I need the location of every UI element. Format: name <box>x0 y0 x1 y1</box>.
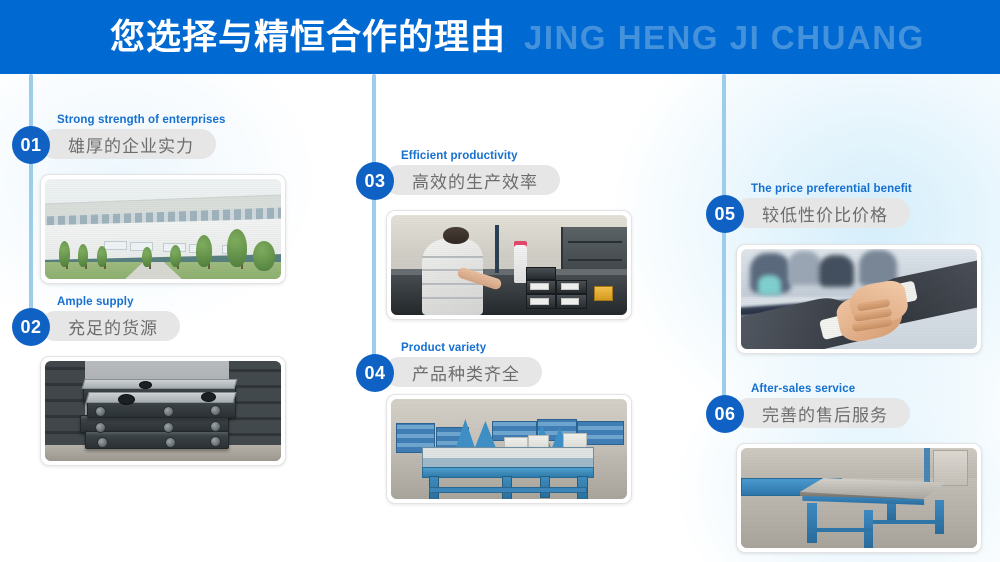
feature-item-04[interactable]: 产品种类齐全 Product variety 04 <box>356 342 656 392</box>
feature-label-cn-04: 产品种类齐全 <box>412 360 520 385</box>
feature-head-04: 产品种类齐全 Product variety 04 <box>356 342 656 392</box>
feature-label-en-06: After-sales service <box>751 383 855 395</box>
handshake-photo[interactable] <box>736 244 982 354</box>
feature-head-05: 较低性价比价格 The price preferential benefit 0… <box>706 183 996 233</box>
feature-head-06: 完善的售后服务 After-sales service 06 <box>706 383 996 433</box>
feature-badge-04: 04 <box>356 354 394 392</box>
handshake-illustration <box>741 249 977 349</box>
feature-label-cn-03: 高效的生产效率 <box>412 168 538 193</box>
worker-illustration <box>391 215 627 315</box>
feature-label-cn-05: 较低性价比价格 <box>762 201 888 226</box>
feature-pill-06: 完善的售后服务 <box>734 398 910 428</box>
feature-pill-02: 充足的货源 <box>40 311 180 341</box>
feature-item-02[interactable]: 充足的货源 Ample supply 02 <box>12 296 312 346</box>
feature-label-en-04: Product variety <box>401 342 486 354</box>
feature-item-03[interactable]: 高效的生产效率 Efficient productivity 03 <box>356 150 656 200</box>
blue-machinery-illustration <box>391 399 627 499</box>
feature-pill-05: 较低性价比价格 <box>734 198 910 228</box>
factory-building-photo[interactable] <box>40 174 286 284</box>
page-title: 您选择与精恒合作的理由 <box>110 20 506 55</box>
factory-illustration <box>45 179 281 279</box>
feature-label-en-03: Efficient productivity <box>401 150 518 162</box>
photo-frame-inner-03 <box>391 215 627 315</box>
feature-badge-01: 01 <box>12 126 50 164</box>
work-table-illustration <box>741 448 977 548</box>
worker-at-bench-photo[interactable] <box>386 210 632 320</box>
feature-item-01[interactable]: 雄厚的企业实力 Strong strength of enterprises 0… <box>12 114 312 164</box>
feature-label-cn-01: 雄厚的企业实力 <box>68 132 194 157</box>
feature-head-01: 雄厚的企业实力 Strong strength of enterprises 0… <box>12 114 312 164</box>
stacked-parts-illustration <box>45 361 281 461</box>
feature-head-02: 充足的货源 Ample supply 02 <box>12 296 312 346</box>
connector-rail-column-1 <box>29 74 33 324</box>
page-subtitle-pinyin: JING HENG JI CHUANG <box>524 21 925 54</box>
feature-badge-06: 06 <box>706 395 744 433</box>
page-header: 您选择与精恒合作的理由 JING HENG JI CHUANG <box>0 0 1000 74</box>
feature-pill-04: 产品种类齐全 <box>384 357 542 387</box>
feature-badge-03: 03 <box>356 162 394 200</box>
photo-frame-inner-02 <box>45 361 281 461</box>
feature-pill-01: 雄厚的企业实力 <box>40 129 216 159</box>
feature-item-05[interactable]: 较低性价比价格 The price preferential benefit 0… <box>706 183 996 233</box>
feature-pill-03: 高效的生产效率 <box>384 165 560 195</box>
connector-rail-column-3 <box>722 74 726 418</box>
feature-badge-05: 05 <box>706 195 744 233</box>
feature-badge-02: 02 <box>12 308 50 346</box>
feature-item-06[interactable]: 完善的售后服务 After-sales service 06 <box>706 383 996 433</box>
promo-banner-page: 您选择与精恒合作的理由 JING HENG JI CHUANG 雄厚的企业实力 … <box>0 0 1000 562</box>
feature-label-cn-02: 充足的货源 <box>68 314 158 339</box>
photo-frame-inner-06 <box>741 448 977 548</box>
feature-label-en-02: Ample supply <box>57 296 134 308</box>
header-title-group: 您选择与精恒合作的理由 JING HENG JI CHUANG <box>110 0 925 74</box>
stacked-parts-photo[interactable] <box>40 356 286 466</box>
feature-label-en-01: Strong strength of enterprises <box>57 114 226 126</box>
work-table-photo[interactable] <box>736 443 982 553</box>
photo-frame-inner-05 <box>741 249 977 349</box>
connector-rail-column-2 <box>372 74 376 370</box>
feature-label-cn-06: 完善的售后服务 <box>762 401 888 426</box>
feature-label-en-05: The price preferential benefit <box>751 183 912 195</box>
blue-machinery-photo[interactable] <box>386 394 632 504</box>
feature-head-03: 高效的生产效率 Efficient productivity 03 <box>356 150 656 200</box>
photo-frame-inner-04 <box>391 399 627 499</box>
photo-frame-inner-01 <box>45 179 281 279</box>
